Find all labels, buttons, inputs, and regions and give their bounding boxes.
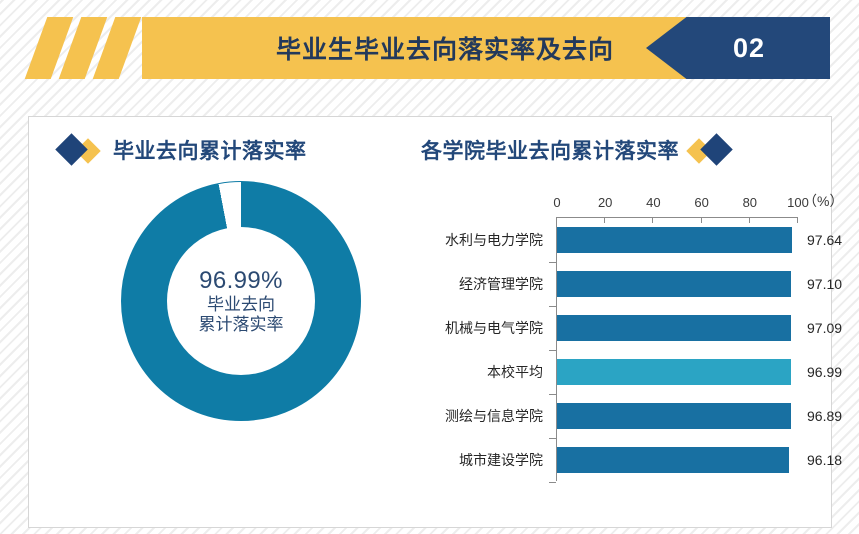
bar-category-label: 城市建设学院 <box>391 450 543 470</box>
header-banner: 毕业生毕业去向落实率及去向 02 <box>30 17 830 79</box>
diamond-pair-icon <box>59 135 103 165</box>
content-card: 毕业去向累计落实率 各学院毕业去向累计落实率 96.99% 毕业去向 累计落实率… <box>28 116 832 528</box>
bar-fill[interactable] <box>557 271 791 297</box>
bar-row[interactable]: 水利与电力学院97.64 <box>391 218 823 262</box>
diamond-navy-icon <box>55 133 88 166</box>
banner-section-number: 02 <box>711 33 765 64</box>
y-axis-tick <box>549 394 556 395</box>
left-section-title-label: 毕业去向累计落实率 <box>113 135 307 165</box>
bar-category-label: 水利与电力学院 <box>391 230 543 250</box>
bar-chart: （%） 020406080100水利与电力学院97.64经济管理学院97.10机… <box>391 191 823 507</box>
bar-row[interactable]: 机械与电气学院97.09 <box>391 306 823 350</box>
x-axis-tick-label: 20 <box>598 195 612 210</box>
bar-fill[interactable] <box>557 315 791 341</box>
bar-value-label: 97.10 <box>807 276 842 292</box>
bar-track <box>557 359 791 385</box>
donut-center-text: 96.99% 毕业去向 累计落实率 <box>167 227 315 375</box>
diamond-navy-icon <box>700 133 733 166</box>
bar-track <box>557 227 792 253</box>
y-axis-tick <box>549 482 556 483</box>
bar-row[interactable]: 本校平均96.99 <box>391 350 823 394</box>
bar-category-label: 本校平均 <box>391 362 543 382</box>
y-axis-tick <box>549 306 556 307</box>
right-section-title-label: 各学院毕业去向累计落实率 <box>421 135 679 165</box>
donut-center-value: 96.99% <box>199 267 283 295</box>
bar-value-label: 96.89 <box>807 408 842 424</box>
bar-category-label: 经济管理学院 <box>391 274 543 294</box>
y-axis-tick <box>549 350 556 351</box>
bar-value-label: 97.09 <box>807 320 842 336</box>
banner-body: 毕业生毕业去向落实率及去向 02 <box>142 17 830 79</box>
banner-title: 毕业生毕业去向落实率及去向 <box>276 30 614 66</box>
axis-unit-label: （%） <box>803 191 843 211</box>
bar-category-label: 机械与电气学院 <box>391 318 543 338</box>
bar-fill[interactable] <box>557 227 792 253</box>
bar-row[interactable]: 经济管理学院97.10 <box>391 262 823 306</box>
y-axis-tick <box>549 262 556 263</box>
bar-row[interactable]: 测绘与信息学院96.89 <box>391 394 823 438</box>
bar-category-label: 测绘与信息学院 <box>391 406 543 426</box>
y-axis-tick <box>549 438 556 439</box>
x-axis-tick-label: 60 <box>694 195 708 210</box>
right-section-title: 各学院毕业去向累计落实率 <box>421 135 733 165</box>
x-axis-tick-label: 40 <box>646 195 660 210</box>
bar-fill[interactable] <box>557 359 791 385</box>
donut-center-caption-1: 毕业去向 <box>207 295 275 315</box>
bar-fill[interactable] <box>557 403 791 429</box>
x-axis-tick-label: 80 <box>743 195 757 210</box>
bar-value-label: 96.99 <box>807 364 842 380</box>
banner-chevron-badge: 02 <box>646 17 830 79</box>
left-section-title: 毕业去向累计落实率 <box>59 135 307 165</box>
bar-value-label: 96.18 <box>807 452 842 468</box>
bar-track <box>557 315 791 341</box>
donut-chart: 96.99% 毕业去向 累计落实率 <box>121 181 361 421</box>
x-axis-tick-label: 0 <box>553 195 560 210</box>
bar-track <box>557 403 791 429</box>
bar-fill[interactable] <box>557 447 789 473</box>
diamond-pair-icon-mirrored <box>689 135 733 165</box>
x-axis-tick-label: 100 <box>787 195 809 210</box>
bar-track <box>557 271 791 297</box>
bar-track <box>557 447 789 473</box>
bar-value-label: 97.64 <box>807 232 842 248</box>
bar-row[interactable]: 城市建设学院96.18 <box>391 438 823 482</box>
donut-center-caption-2: 累计落实率 <box>199 315 284 335</box>
